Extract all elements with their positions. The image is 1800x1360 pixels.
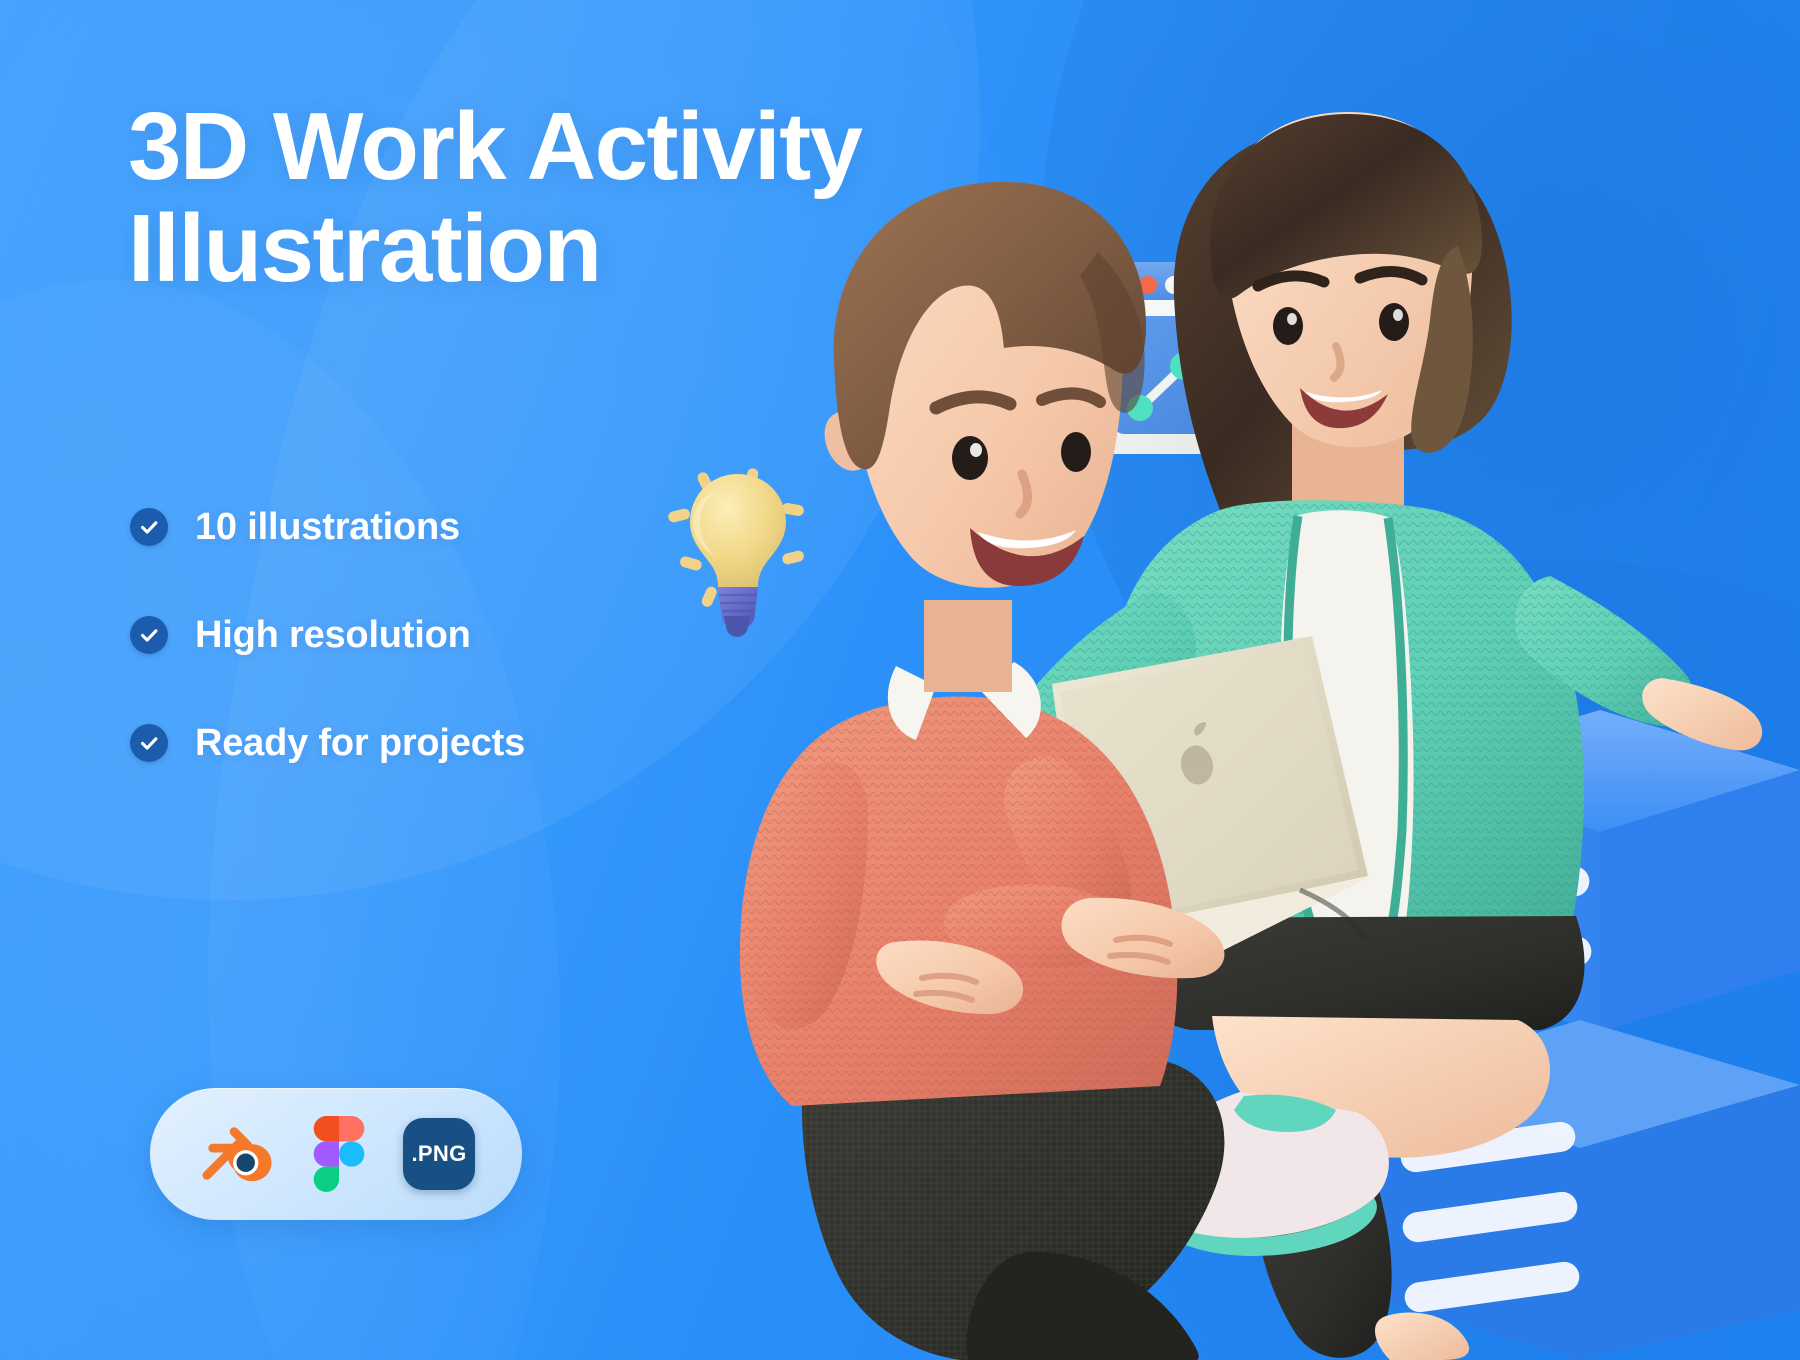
list-item-label: High resolution	[195, 614, 471, 657]
list-item-label: 10 illustrations	[195, 506, 460, 549]
png-format-chip: .PNG	[403, 1118, 475, 1190]
format-badge-pill: .PNG	[150, 1088, 522, 1220]
headline-line-2: Illustration	[128, 198, 1128, 300]
blender-logo-icon	[197, 1119, 275, 1189]
list-item: 10 illustrations	[130, 498, 525, 556]
promo-banner: 3D Work Activity Illustration 10 illustr…	[0, 0, 1800, 1360]
check-icon	[130, 508, 168, 546]
png-chip-label: .PNG	[403, 1118, 475, 1190]
feature-checklist: 10 illustrations High resolution Ready f…	[130, 498, 525, 822]
list-item-label: Ready for projects	[195, 722, 525, 765]
figma-logo-icon	[313, 1116, 365, 1192]
headline-line-1: 3D Work Activity	[128, 93, 862, 200]
check-icon	[130, 724, 168, 762]
list-item: High resolution	[130, 606, 525, 664]
list-item: Ready for projects	[130, 714, 525, 772]
page-title: 3D Work Activity Illustration	[128, 96, 1128, 300]
check-icon	[130, 616, 168, 654]
